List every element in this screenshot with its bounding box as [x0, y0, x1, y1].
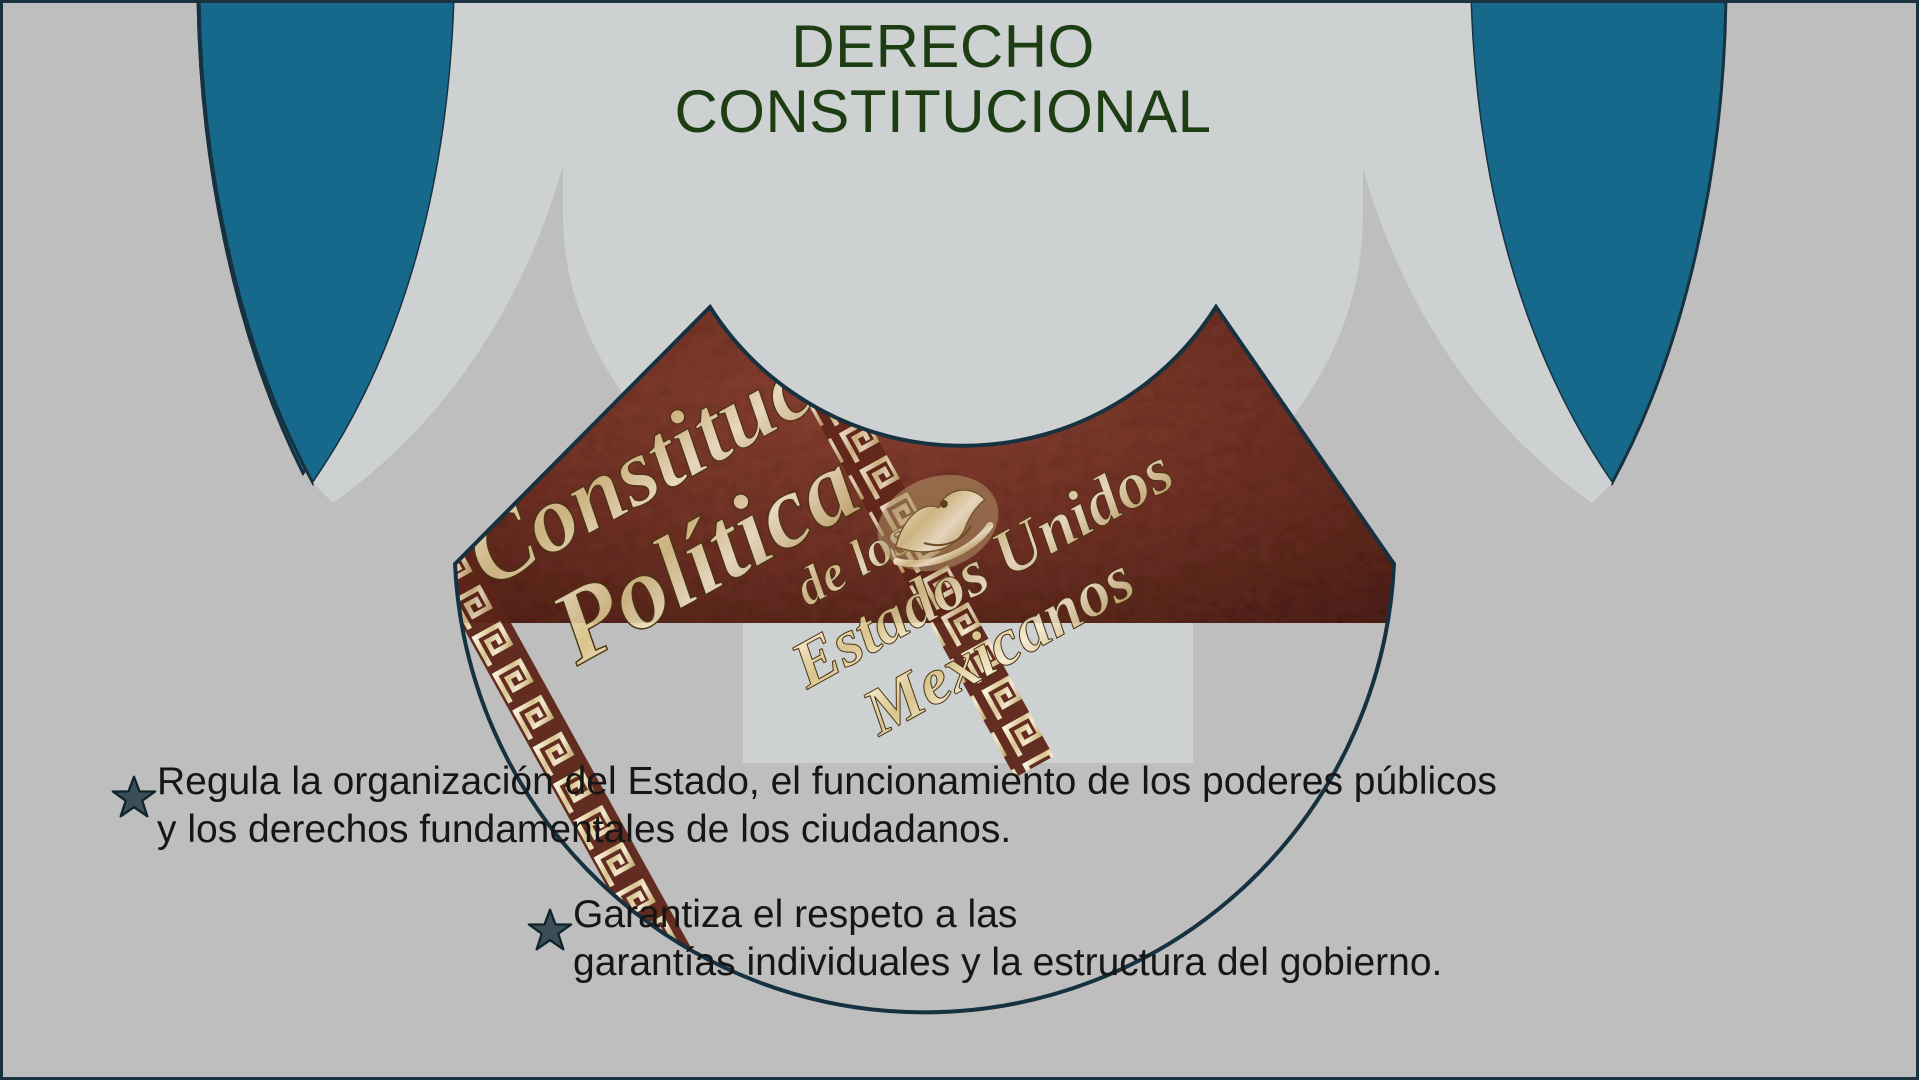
bullet-item: Regula la organización del Estado, el fu…	[115, 758, 1535, 853]
star-icon	[111, 774, 157, 820]
bullet-item: Garantiza el respeto a las garantías ind…	[531, 891, 1711, 986]
star-icon	[527, 907, 573, 953]
bullet-text: Regula la organización del Estado, el fu…	[155, 758, 1497, 853]
slide-canvas: Constitución Política de los Estados Uni…	[0, 0, 1919, 1080]
bullet-text: Garantiza el respeto a las garantías ind…	[571, 891, 1442, 986]
